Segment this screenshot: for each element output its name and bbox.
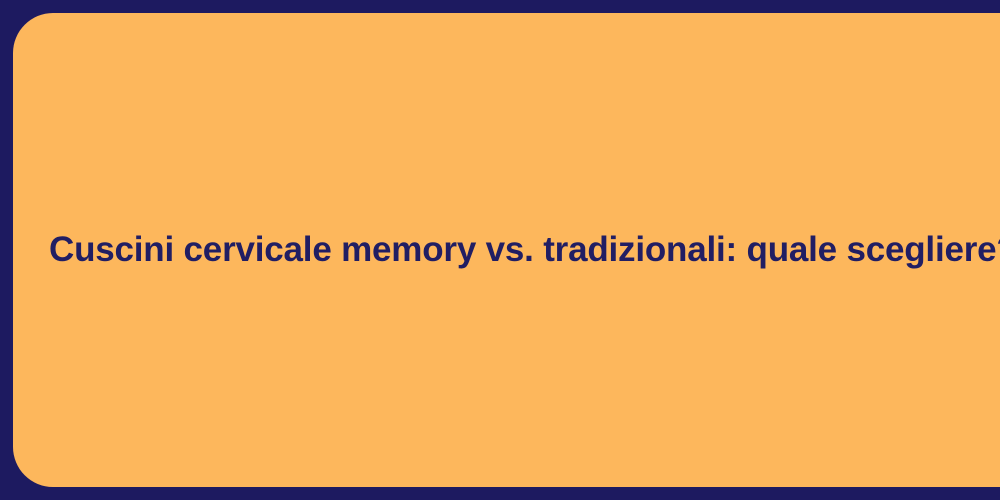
- page-title: Cuscini cervicale memory vs. tradizional…: [49, 229, 1000, 272]
- page-background: Cuscini cervicale memory vs. tradizional…: [0, 0, 1000, 500]
- content-card: Cuscini cervicale memory vs. tradizional…: [13, 13, 1000, 487]
